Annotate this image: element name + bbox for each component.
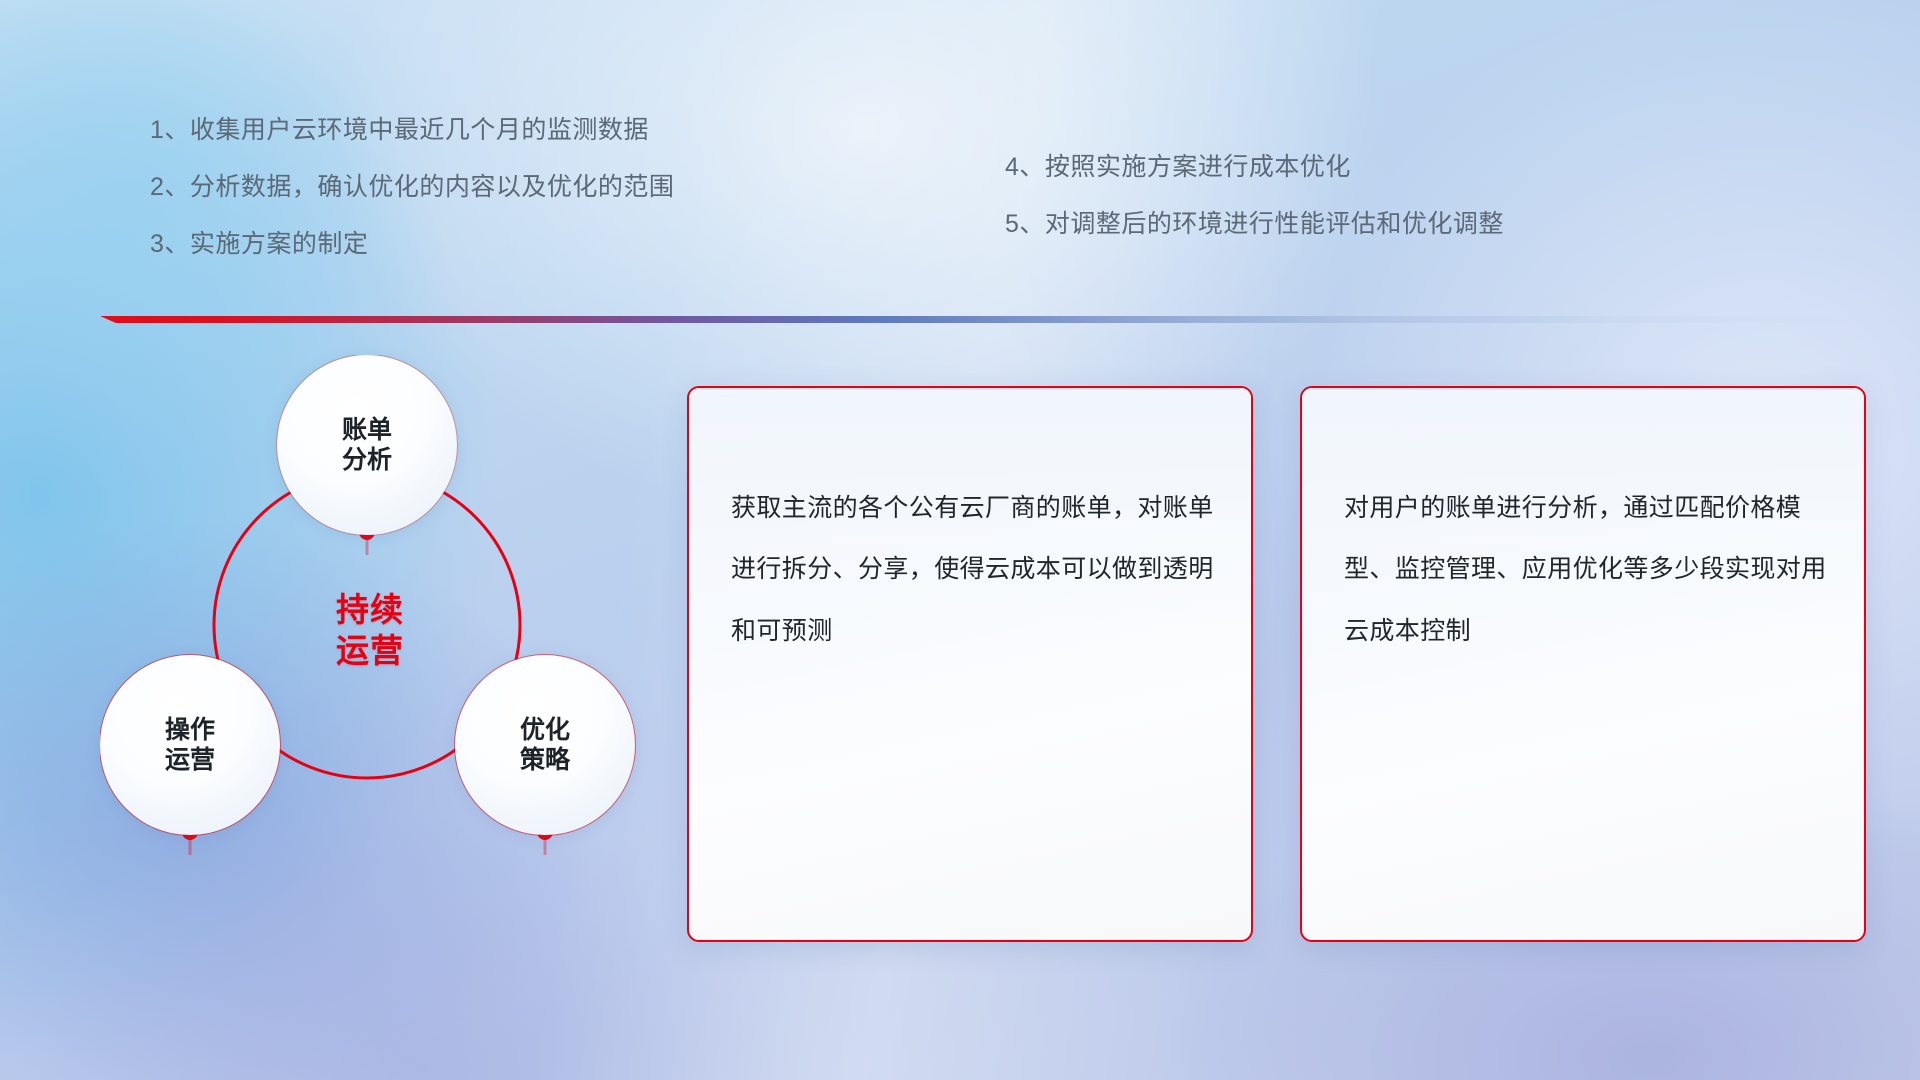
feature-card-cloud-cost-optimization[interactable]: 对用户的账单进行分析，通过匹配价格模型、监控管理、应用优化等多少段实现对用云成本… <box>1300 386 1866 942</box>
card-2-top-border <box>1312 388 1854 390</box>
bubble-top-line1: 账单 <box>342 415 392 446</box>
step-item-4: 4、按照实施方案进行成本优化 <box>1005 155 1504 180</box>
continuous-operation-diagram: 账单 分析 操作 运营 优化 策略 持续 运营 <box>100 355 640 955</box>
card-1-top-border <box>699 388 1241 390</box>
bubble-left-line1: 操作 <box>165 715 215 746</box>
bubble-right-line1: 优化 <box>520 715 570 746</box>
bubble-right-line2: 策略 <box>520 745 570 776</box>
feature-card-multicloud-billing[interactable]: 获取主流的各个公有云厂商的账单，对账单进行拆分、分享，使得云成本可以做到透明和可… <box>687 386 1253 942</box>
diagram-bubble-bill-analysis[interactable]: 账单 分析 <box>277 355 457 535</box>
diagram-bubble-operations[interactable]: 操作 运营 <box>100 655 280 835</box>
steps-list-right: 4、按照实施方案进行成本优化 5、对调整后的环境进行性能评估和优化调整 <box>1005 155 1504 269</box>
header-divider-rule <box>100 316 1860 323</box>
card-1-description: 获取主流的各个公有云厂商的账单，对账单进行拆分、分享，使得云成本可以做到透明和可… <box>731 478 1217 662</box>
step-item-3: 3、实施方案的制定 <box>150 232 674 257</box>
diagram-center-label: 持续 运营 <box>100 589 640 672</box>
step-item-2: 2、分析数据，确认优化的内容以及优化的范围 <box>150 175 674 200</box>
center-label-line2: 运营 <box>100 630 640 671</box>
center-label-line1: 持续 <box>100 589 640 630</box>
bubble-left-line2: 运营 <box>165 745 215 776</box>
slide-canvas: 1、收集用户云环境中最近几个月的监测数据 2、分析数据，确认优化的内容以及优化的… <box>0 0 1920 1080</box>
steps-list-left: 1、收集用户云环境中最近几个月的监测数据 2、分析数据，确认优化的内容以及优化的… <box>150 118 674 289</box>
step-item-1: 1、收集用户云环境中最近几个月的监测数据 <box>150 118 674 143</box>
bubble-top-line2: 分析 <box>342 445 392 476</box>
diagram-bubble-optimization-strategy[interactable]: 优化 策略 <box>455 655 635 835</box>
card-2-description: 对用户的账单进行分析，通过匹配价格模型、监控管理、应用优化等多少段实现对用云成本… <box>1344 478 1830 662</box>
step-item-5: 5、对调整后的环境进行性能评估和优化调整 <box>1005 212 1504 237</box>
